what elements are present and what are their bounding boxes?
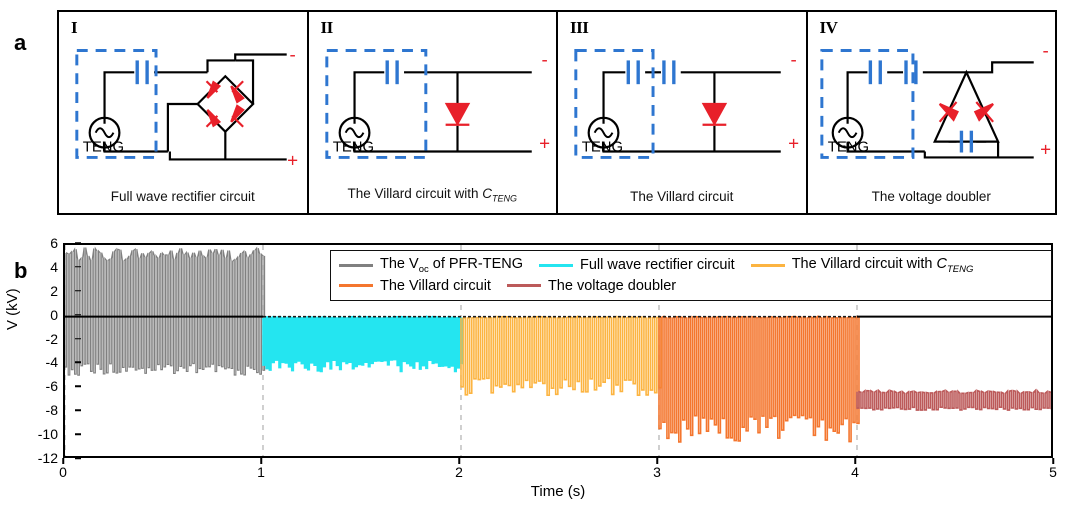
- legend-item-voc-pfr-teng[interactable]: The Voc of PFR-TENG: [339, 256, 523, 275]
- legend-swatch-voltage-doubler: [507, 284, 541, 287]
- x-tick-label-1: 1: [257, 464, 265, 480]
- x-axis-label: Time (s): [531, 483, 585, 500]
- legend-row-1: The Voc of PFR-TENG Full wave rectifier …: [339, 256, 1043, 275]
- legend-item-voltage-doubler[interactable]: The voltage doubler: [507, 278, 676, 294]
- legend-item-villard[interactable]: The Villard circuit: [339, 278, 491, 294]
- legend-swatch-voc-pfr-teng: [339, 264, 373, 267]
- x-tick-mark: [62, 458, 64, 464]
- legend-label-villard-with-cteng: The Villard circuit with CTENG: [792, 256, 974, 275]
- legend-swatch-villard: [339, 284, 373, 287]
- x-tick-label-4: 4: [851, 464, 859, 480]
- legend-label-full-wave-rectifier: Full wave rectifier circuit: [580, 257, 735, 273]
- legend-item-full-wave-rectifier[interactable]: Full wave rectifier circuit: [539, 257, 735, 273]
- x-tick-label-0: 0: [59, 464, 67, 480]
- legend-item-villard-with-cteng[interactable]: The Villard circuit with CTENG: [751, 256, 974, 275]
- x-tick-mark: [1052, 458, 1054, 464]
- x-tick-mark: [854, 458, 856, 464]
- x-tick-label-3: 3: [653, 464, 661, 480]
- x-tick-label-5: 5: [1049, 464, 1057, 480]
- legend-swatch-full-wave-rectifier: [539, 264, 573, 267]
- y-axis-label: V (kV): [4, 288, 21, 330]
- x-tick-label-2: 2: [455, 464, 463, 480]
- legend-label-villard: The Villard circuit: [380, 278, 491, 294]
- x-tick-mark: [656, 458, 658, 464]
- legend-swatch-villard-with-cteng: [751, 264, 785, 267]
- x-tick-mark: [260, 458, 262, 464]
- legend-label-voltage-doubler: The voltage doubler: [548, 278, 676, 294]
- legend-label-voc-pfr-teng: The Voc of PFR-TENG: [380, 256, 523, 275]
- legend-row-2: The Villard circuit The voltage doubler: [339, 278, 1043, 294]
- x-tick-mark: [458, 458, 460, 464]
- chart-legend: The Voc of PFR-TENG Full wave rectifier …: [330, 250, 1052, 301]
